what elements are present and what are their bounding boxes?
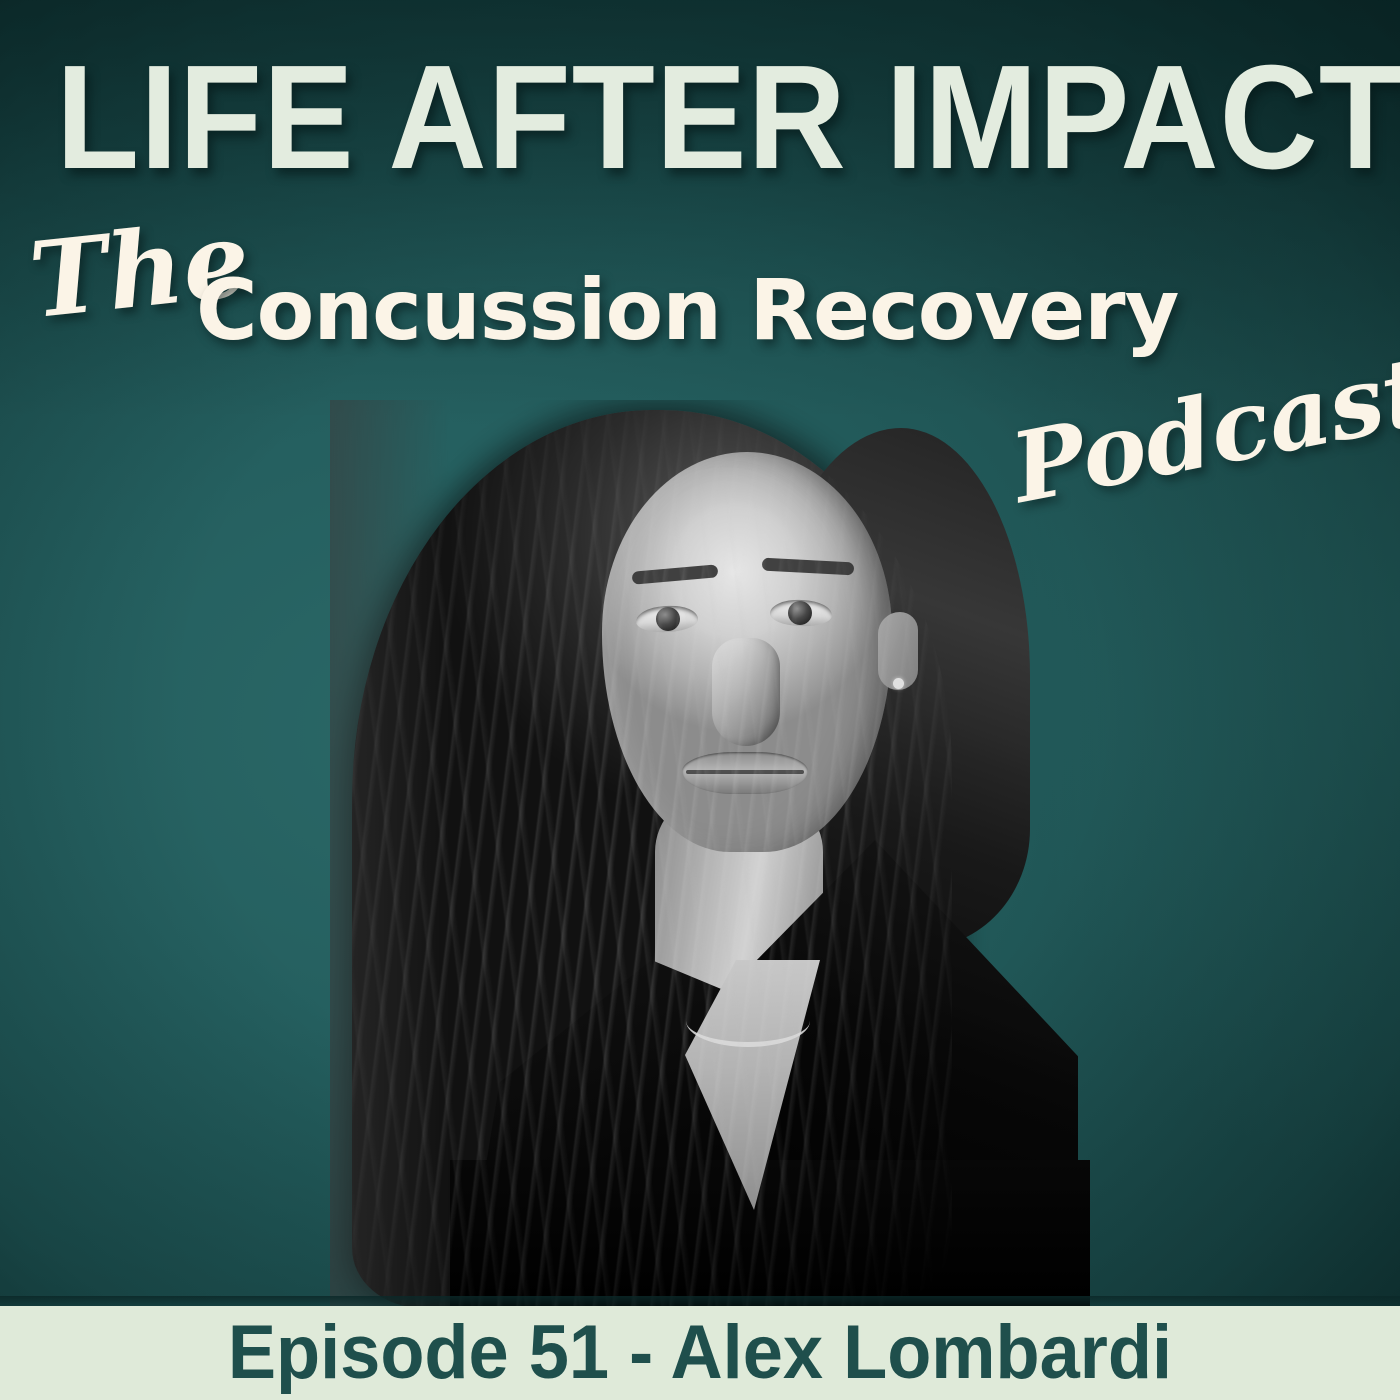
hair-strand-texture xyxy=(352,410,952,1308)
portrait-photo xyxy=(330,400,1090,1308)
podcast-cover-art: LIFE AFTER IMPACT The Concussion Recover… xyxy=(0,0,1400,1400)
banner-divider xyxy=(0,1296,1400,1306)
show-subtitle: Concussion Recovery xyxy=(196,268,1178,352)
show-title: LIFE AFTER IMPACT xyxy=(56,44,1344,192)
episode-banner: Episode 51 - Alex Lombardi xyxy=(0,1306,1400,1400)
episode-title: Episode 51 - Alex Lombardi xyxy=(228,1315,1172,1391)
guest-portrait xyxy=(330,400,1090,1308)
